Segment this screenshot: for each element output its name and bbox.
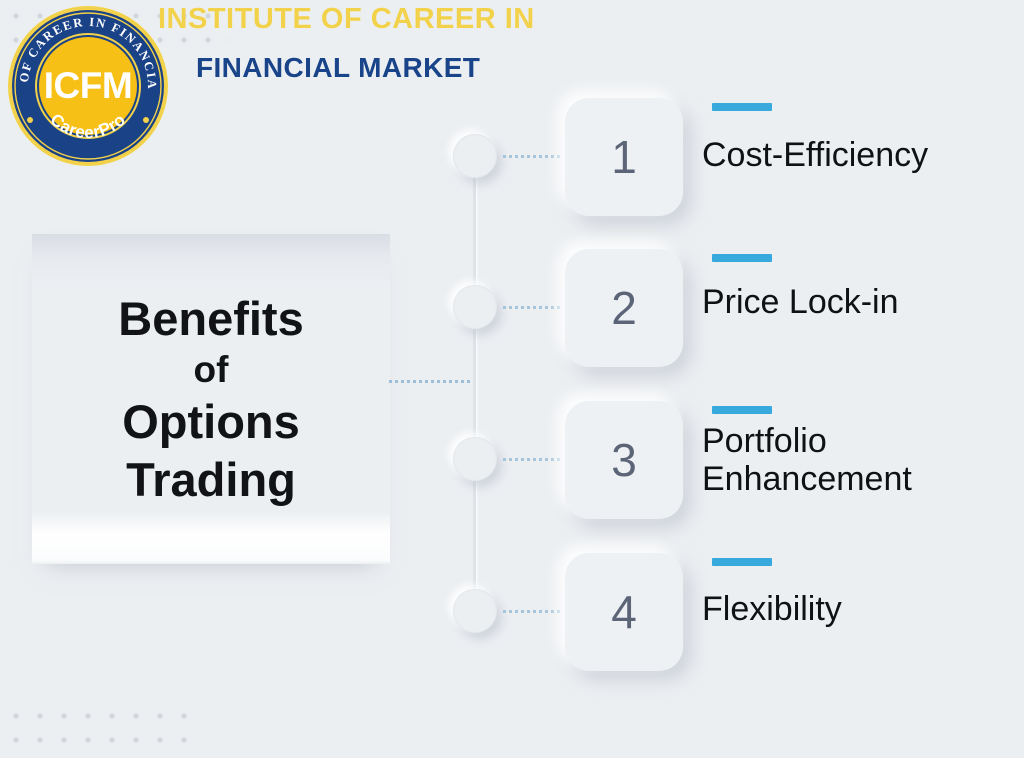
dotted-connector-2 xyxy=(503,306,563,309)
dotted-connector-4 xyxy=(503,610,563,613)
timeline-spine xyxy=(473,150,476,610)
number-label-3: 3 xyxy=(611,437,637,483)
brand-title-line-2: FINANCIAL MARKET xyxy=(196,52,480,84)
accent-dash-1 xyxy=(712,103,772,111)
accent-dash-4 xyxy=(712,558,772,566)
dotted-stub-left xyxy=(389,380,475,383)
timeline-node-3 xyxy=(453,437,497,481)
number-label-1: 1 xyxy=(611,134,637,180)
title-line-1: Benefits xyxy=(118,291,303,346)
number-box-4[interactable]: 4 xyxy=(565,553,683,671)
svg-text:ICFM: ICFM xyxy=(44,65,132,106)
list-item-label-4: Flexibility xyxy=(702,590,1018,628)
list-item-label-3: Portfolio Enhancement xyxy=(702,422,1018,499)
icfm-seal-logo-icon: INSTITUTE OF CAREER IN FINANCIAL MARKET … xyxy=(6,4,170,168)
number-box-1[interactable]: 1 xyxy=(565,98,683,216)
timeline-node-1 xyxy=(453,134,497,178)
page-title: Benefits of Options Trading xyxy=(32,234,390,564)
number-box-3[interactable]: 3 xyxy=(565,401,683,519)
title-line-4: Trading xyxy=(126,452,296,507)
number-label-2: 2 xyxy=(611,285,637,331)
title-line-2: of xyxy=(194,348,229,392)
timeline-node-2 xyxy=(453,285,497,329)
dot-grid-bottom-left-icon xyxy=(0,700,190,758)
list-item-label-1: Cost-Efficiency xyxy=(702,136,1018,174)
list-item-label-2: Price Lock-in xyxy=(702,283,1018,321)
dotted-connector-1 xyxy=(503,155,563,158)
title-line-3: Options xyxy=(122,394,300,449)
accent-dash-2 xyxy=(712,254,772,262)
number-label-4: 4 xyxy=(611,589,637,635)
accent-dash-3 xyxy=(712,406,772,414)
timeline-node-4 xyxy=(453,589,497,633)
infographic-canvas: INSTITUTE OF CAREER IN FINANCIAL MARKET … xyxy=(0,0,1024,758)
brand-title-line-1: INSTITUTE OF CAREER IN xyxy=(158,3,535,36)
number-box-2[interactable]: 2 xyxy=(565,249,683,367)
dotted-connector-3 xyxy=(503,458,563,461)
